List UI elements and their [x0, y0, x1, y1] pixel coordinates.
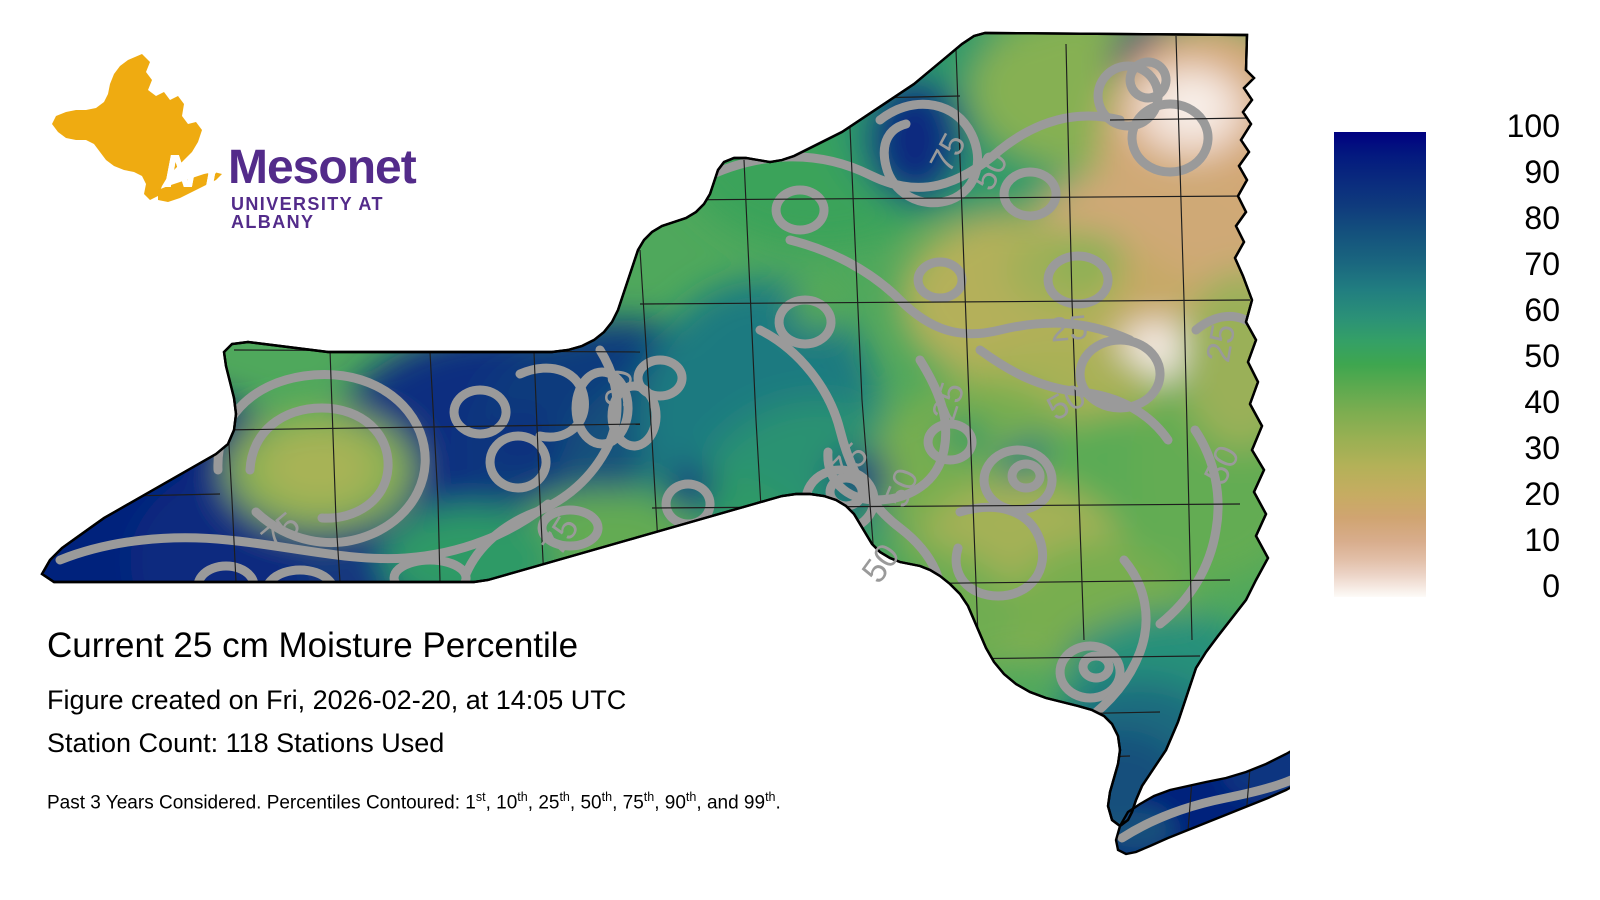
caption-block: Current 25 cm Moisture Percentile Figure… [47, 626, 1007, 815]
logo-university-text: UNIVERSITY AT ALBANY [231, 195, 406, 231]
colorbar-tick-labels: 100 90 80 70 60 50 40 30 20 10 0 [1434, 110, 1560, 620]
colorbar-tick: 50 [1440, 340, 1560, 372]
colorbar-tick: 60 [1440, 294, 1560, 326]
colorbar-tick: 70 [1440, 248, 1560, 280]
contour-label: 25 [1049, 308, 1090, 349]
colorbar-tick: 40 [1440, 386, 1560, 418]
colorbar-tick: 80 [1440, 202, 1560, 234]
map-title: Current 25 cm Moisture Percentile [47, 626, 1007, 665]
colorbar-tick: 90 [1440, 156, 1560, 188]
colorbar-tick: 20 [1440, 478, 1560, 510]
nys-mesonet-logo: NYS Mesonet UNIVERSITY AT ALBANY [46, 52, 406, 202]
colorbar-tick: 100 [1440, 110, 1560, 142]
figure-created-line: Figure created on Fri, 2026-02-20, at 14… [47, 685, 1007, 716]
contour-label: 90 [598, 367, 641, 410]
logo-mesonet-text: Mesonet [228, 144, 416, 192]
colorbar-gradient [1334, 132, 1426, 597]
colorbar-tick: 0 [1440, 570, 1560, 602]
percentiles-footnote: Past 3 Years Considered. Percentiles Con… [47, 790, 1007, 815]
colorbar-tick: 10 [1440, 524, 1560, 556]
station-count-line: Station Count: 118 Stations Used [47, 728, 1007, 759]
contour-label: 25 [1199, 321, 1243, 365]
colorbar-tick: 30 [1440, 432, 1560, 464]
percentile-colorbar: 100 90 80 70 60 50 40 30 20 10 0 [1334, 132, 1574, 602]
